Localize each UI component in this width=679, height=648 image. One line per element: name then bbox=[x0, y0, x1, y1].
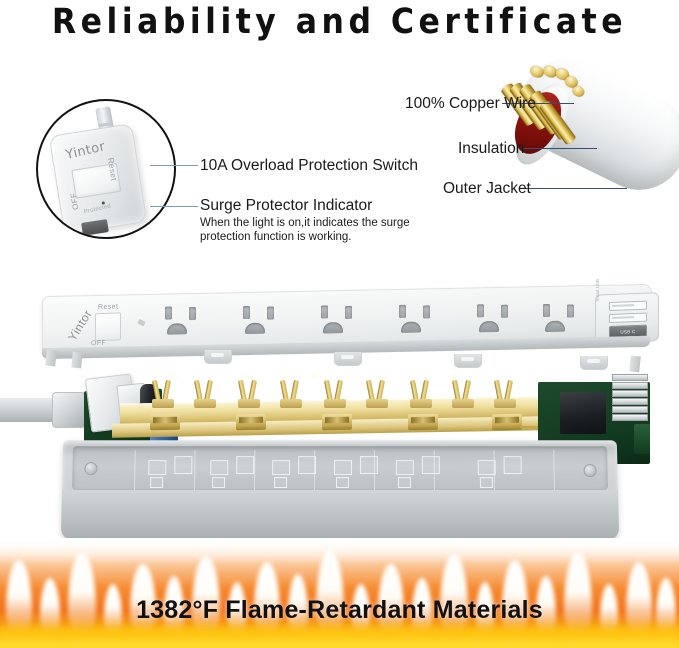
inset-brand-label: Yintor bbox=[64, 139, 106, 163]
socket-cutout-2a bbox=[210, 460, 228, 475]
socket-cutout-1a bbox=[148, 460, 166, 475]
power-strip-top-view: Yintor Reset OFF Sm bbox=[34, 286, 654, 362]
strip-foot-1 bbox=[204, 350, 232, 364]
socket-cutout-4b bbox=[360, 456, 378, 474]
usb-c-label: USB C bbox=[620, 329, 635, 335]
strip-surge-indicator-icon bbox=[137, 319, 146, 327]
strip-reset-label: Reset bbox=[98, 303, 118, 311]
inset-switch-foot bbox=[81, 219, 109, 236]
switch-closeup-circle: Yintor Reset OFF Protected bbox=[36, 99, 176, 239]
usb-a-port-2 bbox=[609, 313, 647, 323]
terminal-block-4 bbox=[408, 414, 438, 431]
inset-protected-label: Protected bbox=[83, 203, 111, 215]
socket-cutout-6c bbox=[480, 477, 493, 488]
contact-clip-4 bbox=[280, 380, 302, 408]
socket-cutout-1c bbox=[150, 477, 163, 488]
outlet-6 bbox=[539, 303, 593, 338]
socket-cutout-2c bbox=[212, 477, 225, 488]
page-title: Reliability and Certificate bbox=[0, 0, 679, 44]
leader-line-surge bbox=[150, 206, 198, 207]
busbar-hole-4 bbox=[380, 374, 389, 379]
strip-rocker-switch bbox=[95, 312, 121, 341]
strip-leg-left-2 bbox=[71, 352, 83, 369]
usb-panel-label: Smart USB bbox=[595, 279, 600, 302]
bottom-housing-shell bbox=[61, 440, 619, 540]
heatsink-fins bbox=[612, 374, 646, 426]
socket-cutout-3a bbox=[272, 460, 290, 475]
contact-clip-6 bbox=[366, 380, 388, 408]
callout-surge-description: When the light is on,it indicates the su… bbox=[200, 216, 415, 244]
socket-cutout-4c bbox=[336, 477, 349, 488]
socket-cutout-5b bbox=[422, 456, 440, 474]
contact-clip-5 bbox=[324, 380, 346, 408]
housing-cavity bbox=[72, 446, 608, 490]
terminal-block-5 bbox=[492, 414, 522, 431]
housing-screw-left bbox=[84, 462, 97, 475]
callout-jacket-title: Outer Jacket bbox=[443, 180, 531, 198]
contact-clip-7 bbox=[410, 380, 432, 408]
leader-line-overload bbox=[150, 165, 198, 166]
outlet-1 bbox=[161, 306, 215, 341]
usb-a-port-1 bbox=[609, 301, 647, 311]
outlet-4 bbox=[395, 304, 449, 339]
outlet-2 bbox=[239, 305, 293, 340]
socket-cutout-4a bbox=[334, 460, 352, 475]
contact-clip-3 bbox=[238, 380, 260, 408]
infographic-canvas: Reliability and Certificate Yintor Reset… bbox=[0, 0, 679, 648]
usb-module bbox=[560, 392, 606, 434]
contact-clip-1 bbox=[152, 380, 174, 408]
green-connector bbox=[634, 424, 650, 454]
callout-overload-title: 10A Overload Protection Switch bbox=[200, 157, 418, 175]
callout-copper-title: 100% Copper Wire bbox=[405, 95, 536, 113]
flame-banner: 1382°F Flame-Retardant Materials bbox=[0, 538, 679, 648]
strip-foot-3 bbox=[454, 354, 482, 368]
busbar-hole-3 bbox=[310, 374, 319, 379]
contact-clip-2 bbox=[194, 380, 216, 408]
leader-line-jacket bbox=[525, 188, 627, 189]
socket-cutout-5c bbox=[398, 477, 411, 488]
strip-leg-left bbox=[45, 350, 57, 367]
busbar-hole-5 bbox=[450, 374, 459, 379]
switch-module: Yintor Reset OFF Protected bbox=[49, 123, 148, 235]
callout-surge-title: Surge Protector Indicator bbox=[200, 197, 372, 215]
socket-cutout-3c bbox=[274, 477, 287, 488]
leader-line-insulation bbox=[523, 148, 597, 149]
busbar-hole-2 bbox=[240, 374, 249, 379]
terminal-block-2 bbox=[236, 414, 266, 431]
terminal-block-3 bbox=[322, 414, 352, 431]
strip-brand-label: Yintor bbox=[65, 307, 95, 343]
socket-cutout-2b bbox=[236, 456, 254, 474]
power-cord-entry bbox=[0, 398, 58, 422]
socket-cutout-1b bbox=[174, 456, 192, 474]
terminal-block-1 bbox=[150, 414, 180, 431]
housing-screw-right bbox=[583, 464, 596, 477]
strain-relief-clamp bbox=[52, 392, 86, 428]
strip-foot-2 bbox=[334, 352, 362, 366]
socket-cutout-6b bbox=[504, 456, 522, 474]
busbar-hole-1 bbox=[170, 374, 179, 379]
callout-insulation-title: Insulation bbox=[458, 140, 524, 158]
outlet-5 bbox=[473, 303, 527, 338]
flame-banner-text: 1382°F Flame-Retardant Materials bbox=[0, 596, 679, 625]
socket-cutout-6a bbox=[478, 460, 496, 475]
contact-clip-8 bbox=[452, 380, 474, 408]
outlet-3 bbox=[317, 305, 371, 340]
housing-outer-wall bbox=[61, 490, 619, 540]
socket-cutout-3b bbox=[298, 456, 316, 474]
contact-clip-9 bbox=[494, 380, 516, 408]
socket-cutout-5a bbox=[396, 460, 414, 475]
